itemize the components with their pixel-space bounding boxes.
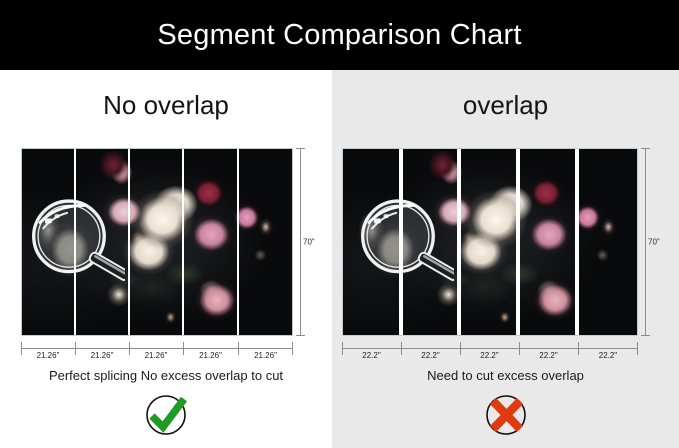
panel-no-overlap: No overlap xyxy=(0,70,332,448)
segment-width-label: 21.26" xyxy=(183,351,238,360)
height-dimension-no-overlap: 70" xyxy=(296,148,318,336)
segmented-artwork-overlap xyxy=(342,148,638,336)
page-title: Segment Comparison Chart xyxy=(157,19,521,52)
overlap-seam xyxy=(516,148,520,336)
dimension-line xyxy=(21,348,293,349)
overlap-seam xyxy=(399,148,403,336)
overlap-seam xyxy=(457,148,461,336)
dimension-line xyxy=(342,348,638,349)
floral-still-life-image xyxy=(21,148,293,336)
height-label: 70" xyxy=(303,238,315,247)
verdict-overlap xyxy=(332,392,679,438)
overlap-seam xyxy=(575,148,579,336)
segment-width-label: 21.26" xyxy=(129,351,183,360)
segment-width-label: 21.26" xyxy=(21,351,75,360)
dimension-tick xyxy=(296,148,305,149)
segment-width-label: 21.26" xyxy=(75,351,129,360)
width-dimensions-overlap: 22.2" 22.2" 22.2" 22.2" 22.2" xyxy=(342,342,638,368)
artwork-photo xyxy=(342,148,638,336)
segmented-artwork-no-overlap xyxy=(21,148,293,336)
verdict-no-overlap xyxy=(0,392,332,438)
height-label: 70" xyxy=(648,238,660,247)
height-dimension-overlap: 70" xyxy=(641,148,663,336)
segment-width-label: 21.26" xyxy=(238,351,293,360)
dimension-line xyxy=(300,148,301,336)
segment-width-label: 22.2" xyxy=(460,351,519,360)
artwork-photo xyxy=(21,148,293,336)
segment-width-label: 22.2" xyxy=(578,351,638,360)
panel-heading-overlap: overlap xyxy=(332,90,679,121)
panel-overlap: overlap xyxy=(332,70,679,448)
segment-seam xyxy=(74,148,76,336)
width-dimensions-no-overlap: 21.26" 21.26" 21.26" 21.26" 21.26" xyxy=(21,342,293,368)
dimension-tick xyxy=(641,335,650,336)
comparison-container: No overlap xyxy=(0,70,679,448)
floral-still-life-image xyxy=(342,148,638,336)
panel-heading-no-overlap: No overlap xyxy=(0,90,332,121)
cross-mark-icon xyxy=(483,392,529,438)
dimension-line xyxy=(645,148,646,336)
segment-width-label: 22.2" xyxy=(401,351,460,360)
segment-seam xyxy=(237,148,239,336)
caption-overlap: Need to cut excess overlap xyxy=(332,368,679,383)
caption-no-overlap: Perfect splicing No excess overlap to cu… xyxy=(0,368,332,383)
title-banner: Segment Comparison Chart xyxy=(0,0,679,70)
segment-seam xyxy=(182,148,184,336)
check-mark-icon xyxy=(143,392,189,438)
dimension-tick xyxy=(296,335,305,336)
segment-width-label: 22.2" xyxy=(519,351,578,360)
segment-width-label: 22.2" xyxy=(342,351,401,360)
dimension-tick xyxy=(641,148,650,149)
segment-seam xyxy=(128,148,130,336)
